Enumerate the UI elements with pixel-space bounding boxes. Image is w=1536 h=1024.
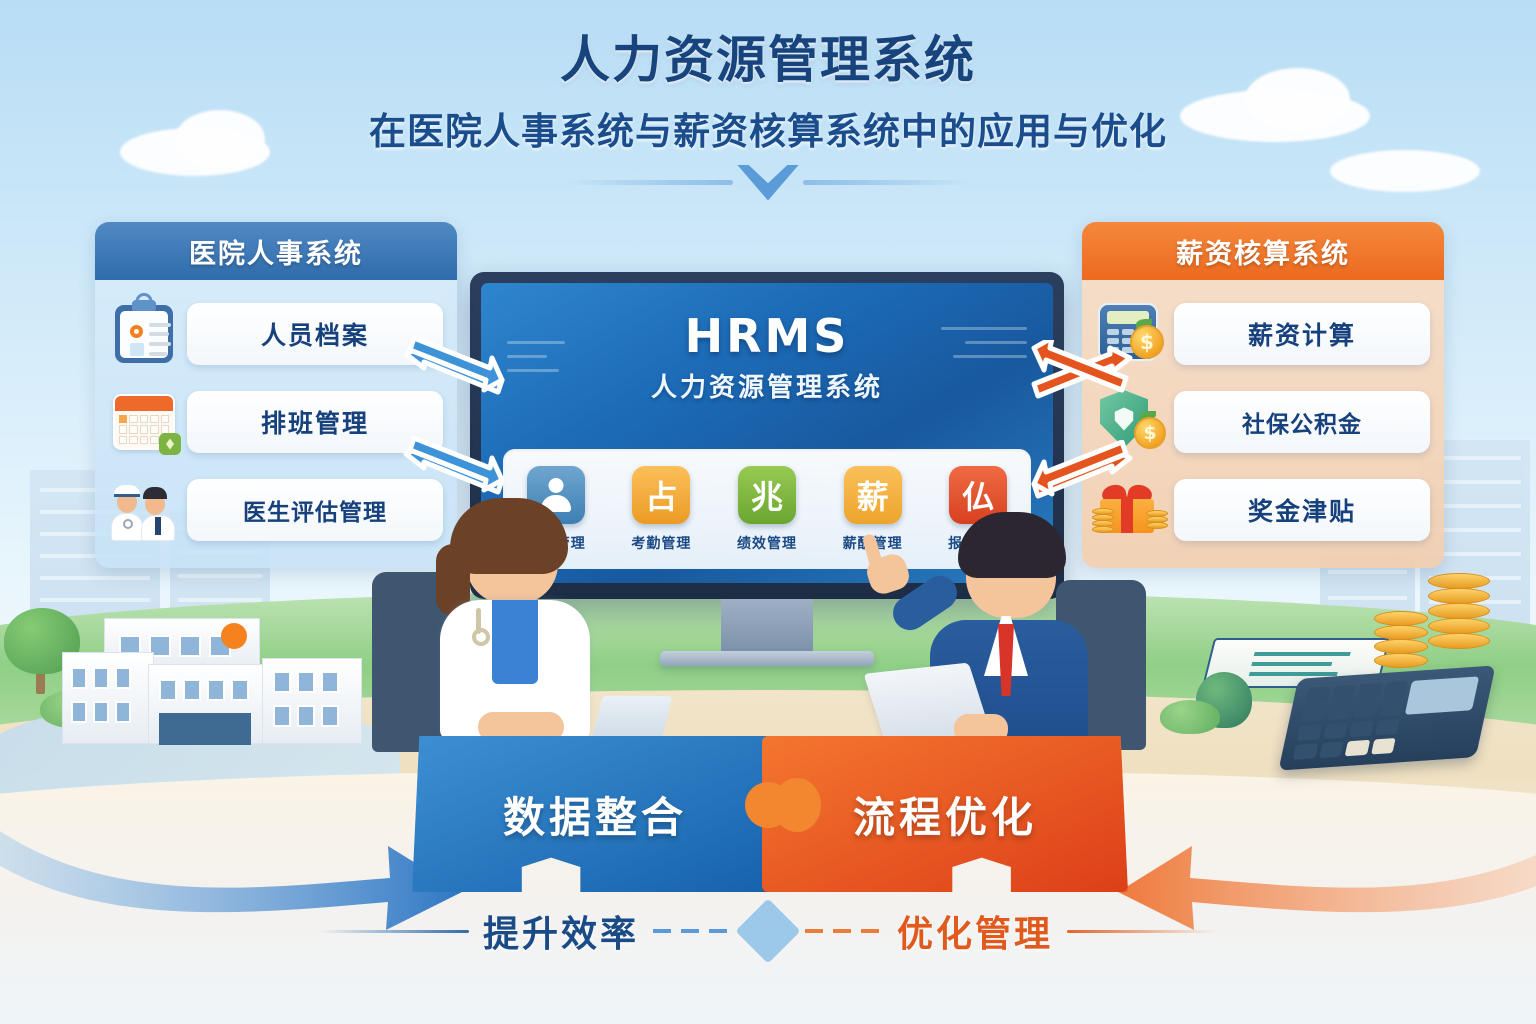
title-block: 人力资源管理系统 在医院人事系统与薪资核算系统中的应用与优化 [0, 34, 1536, 201]
coin-stack-icon [1146, 511, 1168, 529]
manager-figure [850, 508, 1110, 758]
coin-stack-icon [1374, 612, 1428, 668]
left-panel-header: 医院人事系统 [95, 222, 457, 280]
performance-icon[interactable]: 兆 [738, 466, 796, 524]
calculator-icon [1278, 665, 1495, 770]
footer-line-right [1067, 930, 1217, 933]
puzzle-knob-icon [745, 778, 821, 840]
divider-line-right [803, 180, 973, 185]
hospital-building-icon [62, 618, 362, 744]
diamond-icon [735, 898, 800, 963]
double-arrow-icon [398, 336, 510, 416]
monitor-brand-subtitle: 人力资源管理系统 [481, 367, 1053, 404]
monitor-brand: HRMS [481, 283, 1053, 363]
footer-label-left: 提升效率 [483, 905, 639, 957]
double-arrow-icon [1026, 340, 1138, 420]
app-item[interactable]: 兆 绩效管理 [725, 466, 809, 553]
footer-dash-right [805, 929, 883, 933]
footer-line-left [319, 930, 469, 933]
list-item-label: 薪资计算 [1174, 303, 1430, 365]
coin-stack-icon [1428, 574, 1490, 649]
puzzle-right-label: 流程优化 [853, 784, 1037, 845]
page-subtitle: 在医院人事系统与薪资核算系统中的应用与优化 [0, 101, 1536, 155]
page-title: 人力资源管理系统 [0, 34, 1536, 87]
coin-icon: $ [1134, 417, 1166, 449]
footer-strip: 提升效率 优化管理 [0, 905, 1536, 957]
divider-line-left [563, 180, 733, 185]
puzzle-left-label: 数据整合 [503, 784, 687, 845]
shrub-icon [1160, 700, 1220, 734]
monitor-base [660, 651, 874, 666]
badge-icon [159, 433, 181, 455]
title-divider [0, 165, 1536, 201]
footer-dash-left [653, 929, 731, 933]
right-panel-header: 薪资核算系统 [1082, 222, 1444, 280]
chevron-down-icon [737, 165, 799, 201]
medical-staff-icon [109, 477, 181, 543]
puzzle-piece-left[interactable]: 数据整合 [412, 736, 778, 892]
left-panel-body: 人员档案 排班管理 [95, 280, 457, 568]
list-item-label: 奖金津贴 [1174, 479, 1430, 541]
footer-label-right: 优化管理 [897, 905, 1053, 957]
calendar-icon [109, 389, 181, 455]
clipboard-icon [109, 301, 181, 367]
right-panel-body: $ 薪资计算 $ 社保公积金 [1082, 280, 1444, 568]
list-item-label: 社保公积金 [1174, 391, 1430, 453]
app-label: 绩效管理 [725, 533, 809, 553]
doctor-figure [420, 500, 650, 760]
monitor-neck [721, 599, 813, 651]
